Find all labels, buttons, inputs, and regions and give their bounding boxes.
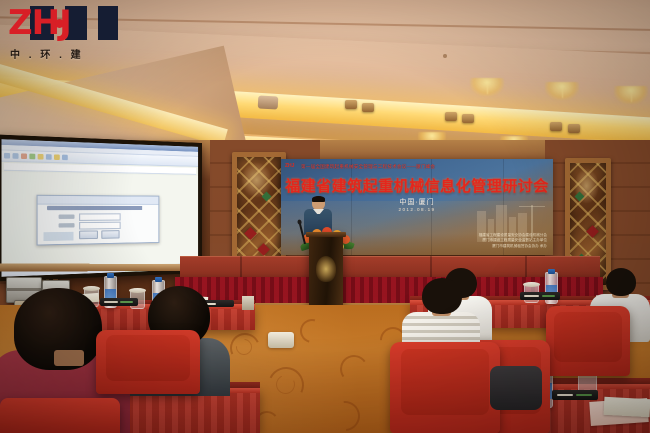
dialog-header: [38, 196, 159, 205]
ceiling-speaker: [258, 95, 279, 109]
chair-front-nearest: [0, 398, 120, 433]
logo-dot: [55, 19, 64, 28]
ceiling-spotlight: [462, 114, 474, 123]
history-icon: [62, 155, 68, 161]
ceiling-spotlight: [345, 100, 357, 109]
sponsor-line: 厦门市建筑机械租赁协会协办 承办: [479, 244, 547, 249]
attendee-leg: [490, 366, 542, 410]
pen-tray: [520, 292, 560, 300]
ceiling-spotlight: [445, 112, 457, 121]
page-body: [2, 172, 199, 269]
pen-tray: [552, 390, 598, 400]
chair-center: [390, 342, 500, 433]
dialog-title: [47, 206, 150, 210]
sponsor-line: 厦门市建设工程质量安全监督站主办单位: [479, 238, 547, 243]
projection-screen: [0, 134, 202, 281]
chandelier: [470, 78, 504, 96]
password-input[interactable]: [79, 222, 121, 230]
username-input[interactable]: [79, 213, 121, 221]
chair-front-left: [96, 330, 200, 394]
presenter-hair: [312, 196, 325, 202]
login-dialog: [36, 195, 159, 246]
logo-letters: ZHJ: [8, 6, 126, 46]
home-icon: [38, 154, 44, 160]
table-item: [242, 296, 254, 310]
projection-screen-bottom-bar: [0, 264, 200, 272]
search-icon: [46, 154, 52, 160]
podium-emblem: [316, 256, 336, 282]
banner-corner-logo: ZHJ: [285, 163, 294, 169]
banner-sponsors: 福建省工程建设质量安全协会建设机械分会 厦门市建设工程质量安全监督站主办单位 厦…: [479, 233, 547, 249]
chandelier: [545, 82, 579, 100]
refresh-icon: [29, 154, 35, 160]
conference-photo: ZHJ 第一届全国建筑起重机械安全管理与工程技术会议——厦门峰会 福建省建筑起重…: [0, 0, 650, 433]
username-label: [59, 214, 75, 218]
dialog-footer: [44, 231, 154, 241]
handout-document: [604, 397, 650, 417]
logo-chinese-text: 中 . 环 . 建: [10, 46, 84, 61]
stop-icon: [21, 153, 27, 159]
stage-platform: [180, 256, 600, 278]
ceiling-spotlight: [550, 122, 562, 131]
ceiling-spotlight: [568, 124, 580, 133]
zhj-watermark-logo: ZHJ 中 . 环 . 建: [8, 6, 126, 64]
banner-title: 福建省建筑起重机械信息化管理研讨会: [281, 175, 553, 196]
banner-top-line: 第一届全国建筑起重机械安全管理与工程技术会议——厦门峰会: [301, 164, 516, 170]
back-icon: [4, 153, 10, 159]
projected-desktop: [2, 139, 199, 277]
stool-seat: [268, 332, 294, 348]
password-label: [59, 223, 75, 228]
favorites-icon: [54, 154, 60, 160]
chair-right-far: [546, 306, 630, 376]
forward-icon: [13, 153, 19, 159]
ceiling-spotlight: [362, 103, 374, 112]
chandelier: [614, 86, 648, 104]
ceiling-sprinkler: [443, 54, 447, 58]
